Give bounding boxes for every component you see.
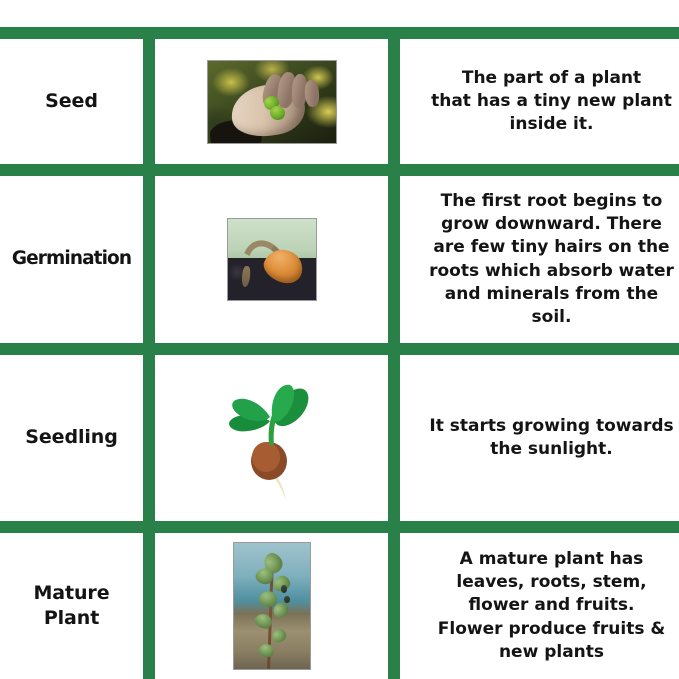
table-row: Seed xyxy=(0,33,679,170)
mature-plant-photo xyxy=(233,542,311,670)
stage-label: Germination xyxy=(0,247,143,271)
table-row: Seedling xyxy=(0,349,679,527)
stage-label: Mature Plant xyxy=(0,581,143,631)
image-wrapper xyxy=(155,542,388,670)
stage-label: Seedling xyxy=(0,425,143,450)
table-row: Germination The first root begins to gro… xyxy=(0,170,679,349)
stage-description: A mature plant has leaves, roots, stem, … xyxy=(400,548,679,664)
stage-description: The part of a plant that has a tiny new … xyxy=(400,67,679,137)
stage-image-cell xyxy=(149,349,394,527)
stage-description-cell: A mature plant has leaves, roots, stem, … xyxy=(394,527,679,679)
leaf-shape xyxy=(257,641,276,658)
image-wrapper xyxy=(155,373,388,503)
stage-name-cell: Mature Plant xyxy=(0,527,149,679)
stage-image-cell xyxy=(149,33,394,170)
plant-life-cycle-table: Seed xyxy=(0,27,679,679)
stage-name-cell: Seedling xyxy=(0,349,149,527)
stage-image-cell xyxy=(149,527,394,679)
bud-shape xyxy=(281,585,288,594)
germinating-seed-photo xyxy=(227,218,317,301)
stage-image-cell xyxy=(149,170,394,349)
bud-shape xyxy=(284,596,290,604)
seed-highlight xyxy=(252,442,280,472)
image-wrapper xyxy=(155,60,388,144)
image-wrapper xyxy=(155,218,388,301)
plant-life-cycle-sheet: Seed xyxy=(0,0,679,679)
stage-name-cell: Seed xyxy=(0,33,149,170)
stage-description: The first root begins to grow downward. … xyxy=(400,190,679,330)
seedling-svg xyxy=(212,373,332,503)
stage-name-cell: Germination xyxy=(0,170,149,349)
table-row: Mature Plant xyxy=(0,527,679,679)
stage-description-cell: The first root begins to grow downward. … xyxy=(394,170,679,349)
stage-description-cell: It starts growing towards the sunlight. xyxy=(394,349,679,527)
hand-holding-seeds-photo xyxy=(207,60,337,144)
stage-label: Seed xyxy=(0,89,143,114)
leaf-shape xyxy=(270,627,288,643)
finger-shape xyxy=(304,80,320,108)
seedling-illustration xyxy=(212,373,332,503)
stage-description: It starts growing towards the sunlight. xyxy=(400,415,679,462)
stage-description-cell: The part of a plant that has a tiny new … xyxy=(394,33,679,170)
